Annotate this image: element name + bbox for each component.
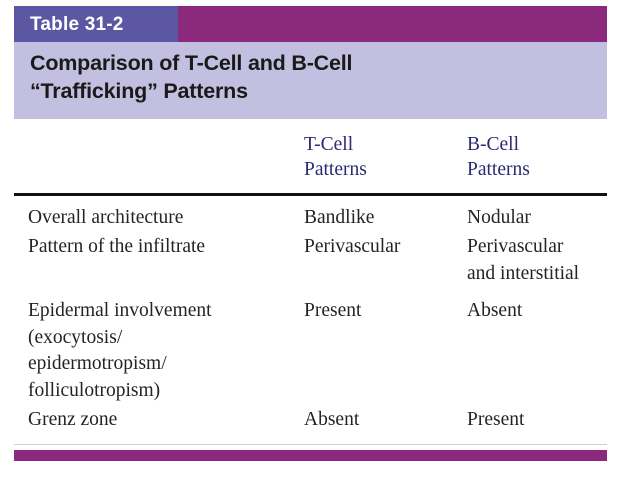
- table-row: Overall architecture Bandlike Nodular: [14, 205, 607, 232]
- table-title: Comparison of T-Cell and B-Cell “Traffic…: [30, 50, 450, 105]
- row-t-cell: Perivascular: [304, 234, 467, 261]
- table-row: Epidermal involvement (exocytosis/ epide…: [14, 298, 607, 406]
- cell-value: Perivascular: [304, 234, 467, 261]
- table-body: Overall architecture Bandlike Nodular Pa…: [14, 196, 607, 440]
- table-row: Grenz zone Absent Present: [14, 407, 607, 434]
- cell-value: Overall architecture: [28, 205, 304, 232]
- column-header-t-cell-label: T-Cell Patterns: [304, 133, 467, 183]
- row-label-cell: Grenz zone: [14, 407, 304, 434]
- cell-value: Present: [467, 407, 607, 434]
- row-label-cell: Overall architecture: [14, 205, 304, 232]
- table-grid: T-Cell Patterns B-Cell Patterns Overall …: [14, 119, 607, 445]
- row-spacer: [14, 288, 607, 298]
- cell-value: Nodular: [467, 205, 607, 232]
- cell-value: Absent: [467, 298, 607, 325]
- row-b-cell: Perivascular and interstitial: [467, 234, 607, 288]
- row-t-cell: Bandlike: [304, 205, 467, 232]
- cell-value: Bandlike: [304, 205, 467, 232]
- table-header-band: Table 31-2: [14, 6, 607, 42]
- row-t-cell: Absent: [304, 407, 467, 434]
- table-footer-bar: [14, 450, 607, 461]
- column-header-t-cell: T-Cell Patterns: [304, 133, 467, 183]
- row-label-cell: Epidermal involvement (exocytosis/ epide…: [14, 298, 304, 406]
- table-row: Pattern of the infiltrate Perivascular P…: [14, 234, 607, 288]
- cell-value: Perivascular and interstitial: [467, 234, 607, 288]
- row-t-cell: Present: [304, 298, 467, 325]
- cell-value: Absent: [304, 407, 467, 434]
- row-b-cell: Present: [467, 407, 607, 434]
- cell-value: Present: [304, 298, 467, 325]
- row-label-cell: Pattern of the infiltrate: [14, 234, 304, 261]
- table-number-label: Table 31-2: [30, 15, 124, 34]
- table-footer-rule: [14, 444, 607, 445]
- column-header-b-cell: B-Cell Patterns: [467, 133, 607, 183]
- row-b-cell: Nodular: [467, 205, 607, 232]
- table-title-block: Comparison of T-Cell and B-Cell “Traffic…: [14, 42, 607, 119]
- cell-value: Grenz zone: [28, 407, 304, 434]
- column-header-b-cell-label: B-Cell Patterns: [467, 133, 607, 183]
- table-figure: Table 31-2 Comparison of T-Cell and B-Ce…: [14, 6, 607, 461]
- cell-value: Pattern of the infiltrate: [28, 234, 304, 261]
- row-b-cell: Absent: [467, 298, 607, 325]
- table-number-badge: Table 31-2: [14, 6, 178, 42]
- cell-value: Epidermal involvement (exocytosis/ epide…: [28, 298, 304, 406]
- table-column-header-row: T-Cell Patterns B-Cell Patterns: [14, 119, 607, 189]
